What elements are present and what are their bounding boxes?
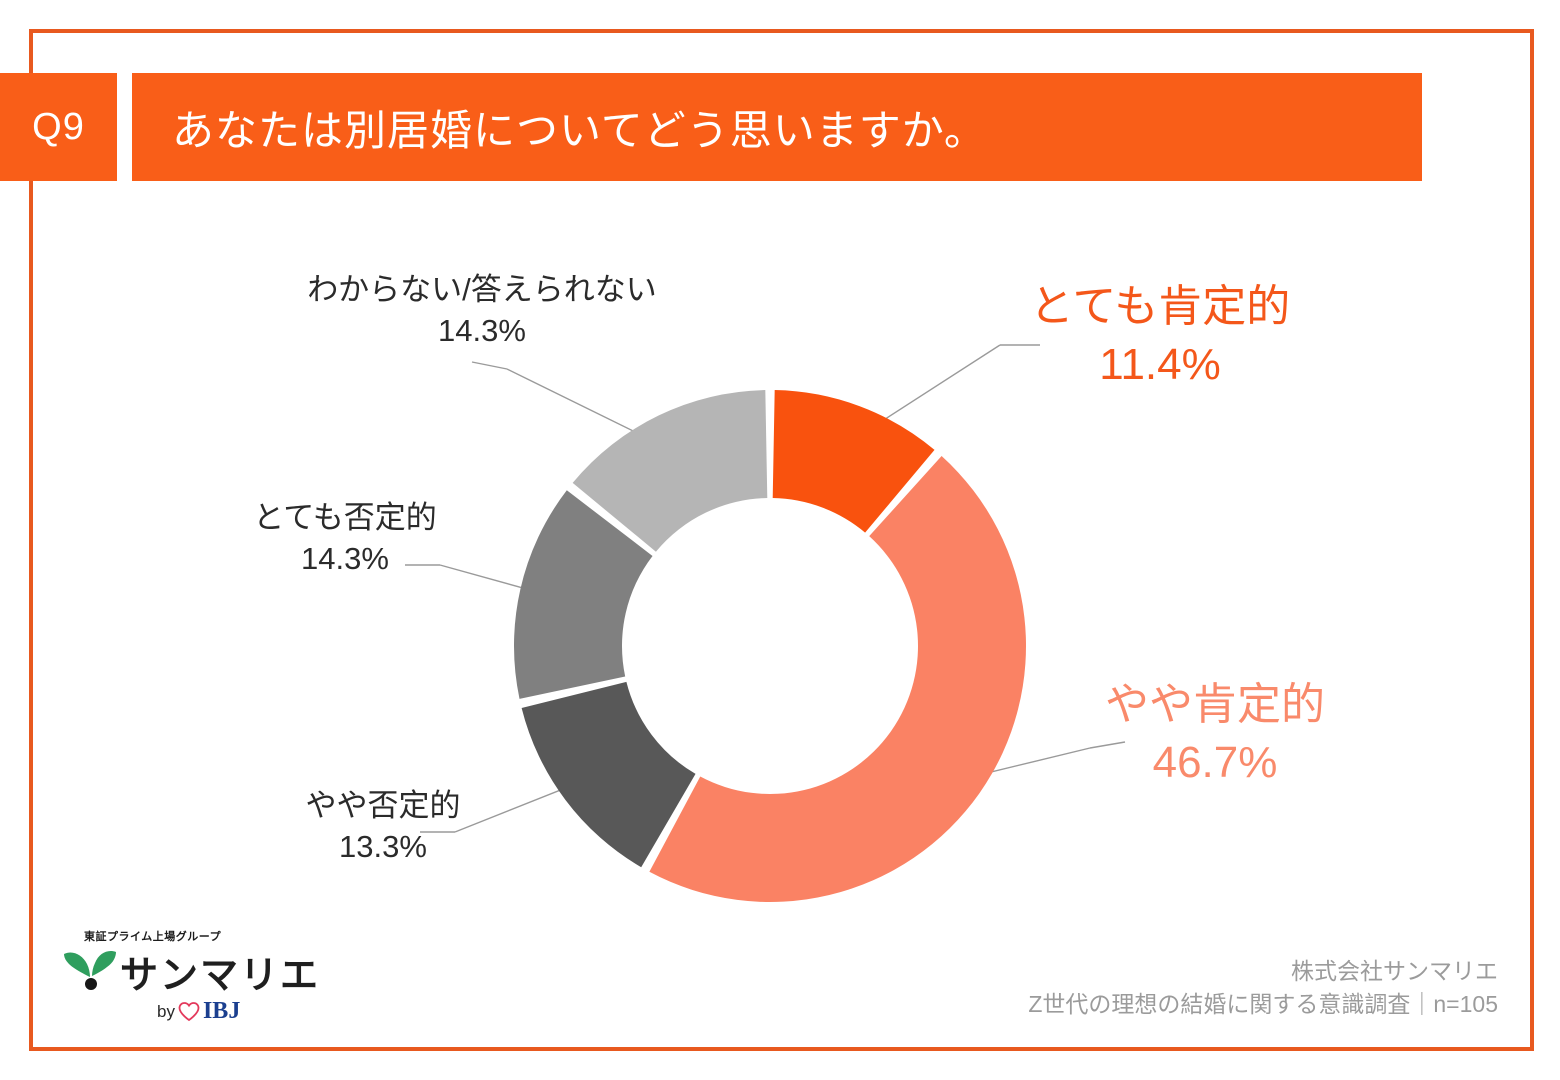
logo-tagline: 東証プライム上場グループ (84, 928, 221, 944)
footer-source-note: 株式会社サンマリエ Z世代の理想の結婚に関する意識調査｜n=105 (1028, 955, 1498, 1022)
callout-somewhat-negative: やや否定的 13.3% (228, 786, 538, 868)
leader-line-elbow (472, 362, 507, 369)
sunmarie-logo: 東証プライム上場グループ サンマリエ by IBJ (62, 928, 292, 1036)
logo-partner: IBJ (203, 998, 240, 1025)
callout-somewhat-positive-label: やや肯定的 (1010, 676, 1420, 734)
callout-somewhat-negative-value: 13.3% (228, 827, 538, 868)
callout-very-positive: とても肯定的 11.4% (955, 278, 1365, 394)
donut-slices (514, 390, 1026, 902)
logo-brand: サンマリエ (120, 944, 320, 999)
callout-unknown-value: 14.3% (237, 311, 727, 352)
logo-by-text: by (157, 1002, 175, 1022)
donut-chart: わからない/答えられない 14.3% とても否定的 14.3% やや否定的 13… (0, 0, 1560, 1080)
callout-somewhat-positive: やや肯定的 46.7% (1010, 676, 1420, 792)
footer-survey: Z世代の理想の結婚に関する意識調査｜n=105 (1028, 988, 1498, 1021)
logo-by-line: by IBJ (157, 998, 240, 1025)
leaf-icon (62, 946, 120, 992)
callout-somewhat-negative-label: やや否定的 (228, 786, 538, 827)
callout-very-positive-value: 11.4% (955, 336, 1365, 394)
callout-somewhat-positive-value: 46.7% (1010, 734, 1420, 792)
footer-company: 株式会社サンマリエ (1028, 955, 1498, 988)
heart-icon (178, 1002, 200, 1022)
donut-slice (649, 456, 1026, 902)
callout-unknown: わからない/答えられない 14.3% (237, 270, 727, 352)
callout-very-positive-label: とても肯定的 (955, 278, 1365, 336)
callout-very-negative-label: とても否定的 (190, 498, 500, 539)
callout-very-negative: とても否定的 14.3% (190, 498, 500, 580)
callout-very-negative-value: 14.3% (190, 539, 500, 580)
callout-unknown-label: わからない/答えられない (237, 270, 727, 311)
